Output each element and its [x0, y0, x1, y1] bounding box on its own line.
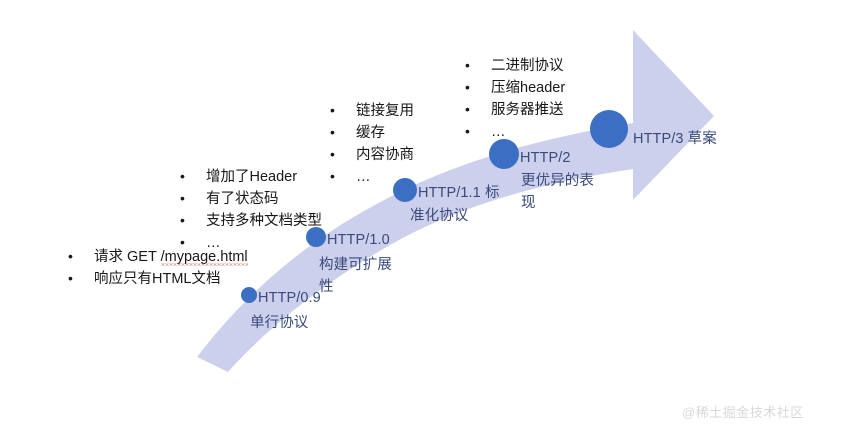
timeline-node-label-http3: HTTP/3 草案	[633, 129, 717, 150]
feature-bullet-text: 有了状态码	[206, 188, 279, 210]
bullet-point-icon: •	[64, 246, 94, 267]
feature-bullet-text: 内容协商	[356, 144, 414, 166]
timeline-node-sublabel-http11: 准化协议	[410, 206, 468, 228]
feature-bullet-item: •二进制协议	[461, 55, 565, 77]
feature-bullet-text: 增加了Header	[206, 166, 297, 188]
timeline-node-label-http09: HTTP/0.9	[258, 288, 321, 309]
feature-bullet-text: 链接复用	[356, 100, 414, 122]
bullet-point-icon: •	[461, 55, 491, 76]
feature-bullet-text: 服务器推送	[491, 99, 564, 121]
timeline-node-label-http10: HTTP/1.0	[327, 230, 390, 251]
diagram-canvas: @稀土掘金技术社区 HTTP/0.9单行协议•请求 GET /mypage.ht…	[0, 0, 852, 436]
timeline-node-sublabel-http2: 更优异的表 现	[521, 171, 594, 215]
feature-bullet-item: •增加了Header	[176, 166, 322, 188]
feature-bullet-item: •响应只有HTML文档	[64, 268, 248, 290]
feature-bullet-item: •有了状态码	[176, 188, 322, 210]
timeline-node-label-http2: HTTP/2	[520, 148, 571, 169]
feature-bullet-item: •缓存	[326, 122, 414, 144]
feature-bullet-list-http2: •二进制协议•压缩header•服务器推送•…	[461, 55, 565, 143]
timeline-node-sublabel-http09: 单行协议	[250, 313, 308, 335]
feature-bullet-text: 缓存	[356, 122, 385, 144]
bullet-point-icon: •	[326, 166, 356, 187]
bullet-point-icon: •	[176, 210, 206, 231]
timeline-node-dot-http3[interactable]	[590, 110, 628, 148]
bullet-point-icon: •	[326, 100, 356, 121]
feature-bullet-item: •支持多种文档类型	[176, 210, 322, 232]
feature-bullet-item: •…	[326, 166, 414, 188]
feature-bullet-list-http10: •增加了Header•有了状态码•支持多种文档类型•…	[176, 166, 322, 254]
timeline-node-sublabel-http10: 构建可扩展 性	[319, 255, 392, 299]
bullet-point-icon: •	[461, 121, 491, 142]
bullet-point-icon: •	[64, 268, 94, 289]
feature-bullet-item: •服务器推送	[461, 99, 565, 121]
feature-bullet-text: 压缩header	[491, 77, 565, 99]
feature-bullet-text: …	[491, 121, 506, 143]
feature-bullet-text: 响应只有HTML文档	[94, 268, 220, 290]
timeline-node-dot-http2[interactable]	[489, 139, 519, 169]
spellcheck-squiggle	[161, 263, 248, 266]
feature-bullet-item: •内容协商	[326, 144, 414, 166]
feature-bullet-item: •…	[461, 121, 565, 143]
feature-bullet-item: •…	[176, 232, 322, 254]
feature-bullet-text: …	[356, 166, 371, 188]
feature-bullet-text: …	[206, 232, 221, 254]
feature-bullet-item: •链接复用	[326, 100, 414, 122]
bullet-point-icon: •	[326, 122, 356, 143]
bullet-point-icon: •	[326, 144, 356, 165]
bullet-point-icon: •	[176, 232, 206, 253]
feature-bullet-text: 二进制协议	[491, 55, 564, 77]
feature-bullet-list-http11: •链接复用•缓存•内容协商•…	[326, 100, 414, 188]
bullet-point-icon: •	[461, 99, 491, 120]
bullet-point-icon: •	[176, 188, 206, 209]
bullet-point-icon: •	[176, 166, 206, 187]
bullet-point-icon: •	[461, 77, 491, 98]
feature-bullet-text: 支持多种文档类型	[206, 210, 322, 232]
watermark: @稀土掘金技术社区	[682, 402, 804, 421]
timeline-node-label-http11: HTTP/1.1 标	[418, 183, 500, 204]
feature-bullet-item: •压缩header	[461, 77, 565, 99]
